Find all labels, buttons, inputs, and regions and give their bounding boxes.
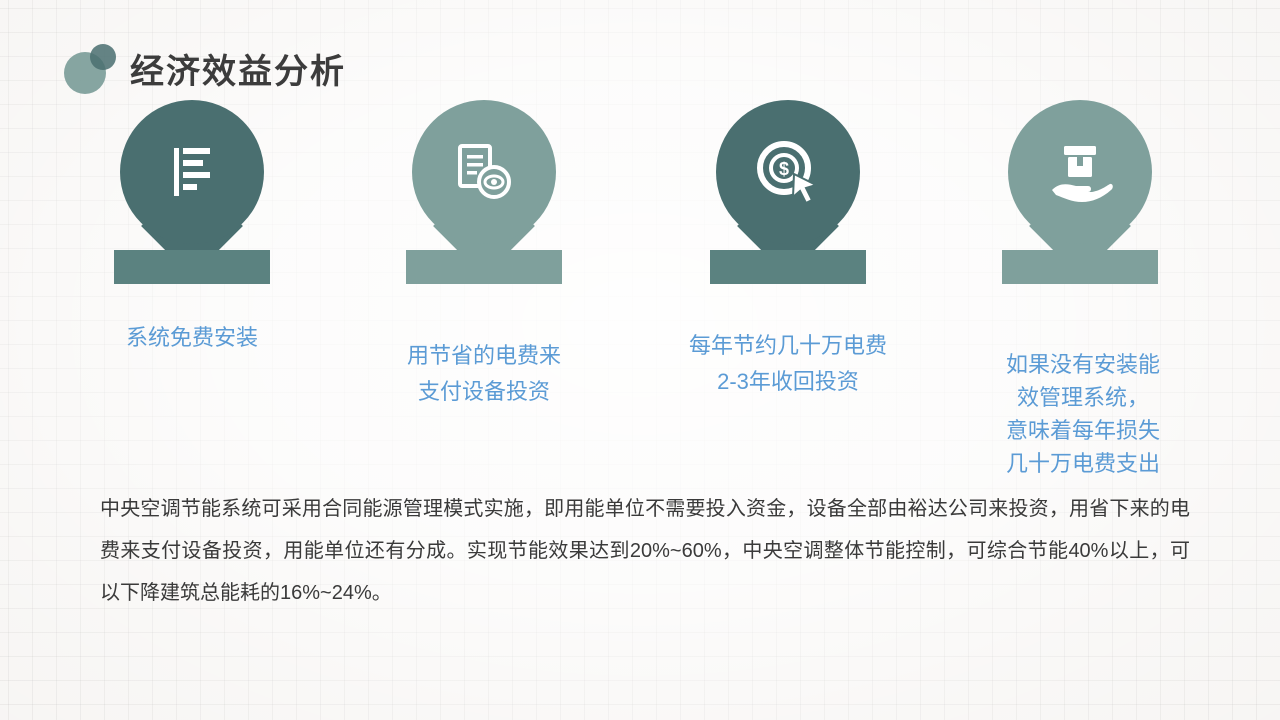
- document-lines-icon: [120, 100, 264, 244]
- money-click-icon: $: [716, 100, 860, 244]
- document-review-eye-icon: [412, 100, 556, 244]
- pin-marker-2: [412, 100, 556, 244]
- pin-marker-1: [120, 100, 264, 244]
- pin-marker-4: [1008, 100, 1152, 244]
- dot-small-icon: [90, 44, 116, 70]
- pin-item-4: [980, 100, 1180, 244]
- pin-base-4: [1002, 250, 1158, 284]
- caption-4-line-4: 几十万电费支出: [968, 447, 1198, 480]
- pin-item-1: [92, 100, 292, 244]
- title-decoration-dots: [64, 44, 120, 94]
- caption-2-line-1: 用节省的电费来: [374, 338, 594, 374]
- body-paragraph: 中央空调节能系统可采用合同能源管理模式实施，即用能单位不需要投入资金，设备全部由…: [100, 488, 1190, 614]
- caption-4-line-3: 意味着每年损失: [968, 414, 1198, 447]
- page-title-text: 经济效益分析: [130, 44, 346, 93]
- pin-base-2: [406, 250, 562, 284]
- caption-4-line-1: 如果没有安装能: [968, 348, 1198, 381]
- pin-row: $: [0, 100, 1280, 300]
- caption-1-line-1: 系统免费安装: [92, 320, 292, 356]
- caption-4-line-2: 效管理系统，: [968, 381, 1198, 414]
- caption-2: 用节省的电费来 支付设备投资: [374, 338, 594, 410]
- caption-row: 系统免费安装 用节省的电费来 支付设备投资 每年节约几十万电费 2-3年收回投资…: [0, 320, 1280, 480]
- svg-text:$: $: [779, 159, 789, 179]
- pin-item-2: [384, 100, 584, 244]
- caption-3-line-2: 2-3年收回投资: [648, 364, 928, 400]
- hand-box-icon: [1008, 100, 1152, 244]
- caption-3-line-1: 每年节约几十万电费: [648, 328, 928, 364]
- caption-3: 每年节约几十万电费 2-3年收回投资: [648, 328, 928, 400]
- caption-4: 如果没有安装能 效管理系统， 意味着每年损失 几十万电费支出: [968, 348, 1198, 480]
- pin-base-3: [710, 250, 866, 284]
- pin-base-1: [114, 250, 270, 284]
- pin-marker-3: $: [716, 100, 860, 244]
- caption-1: 系统免费安装: [92, 320, 292, 356]
- pin-item-3: $: [688, 100, 888, 244]
- caption-2-line-2: 支付设备投资: [374, 374, 594, 410]
